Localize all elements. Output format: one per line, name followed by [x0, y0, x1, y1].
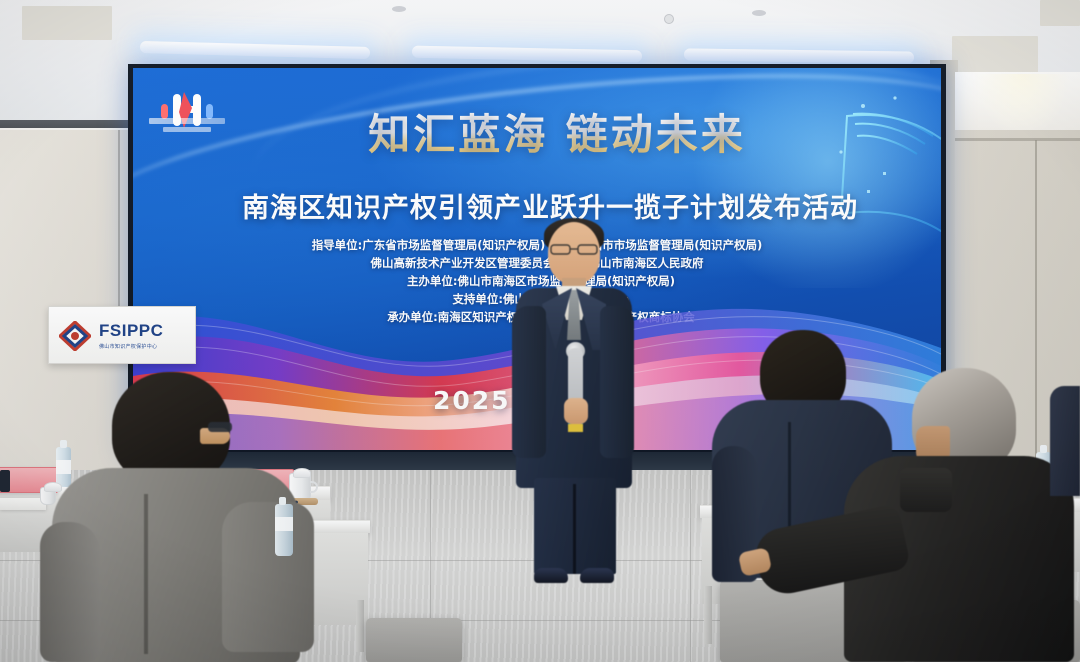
fsippc-sign-board: FSIPPC 佛山市知识产权保护中心: [48, 306, 196, 364]
soffit-light-glow: [975, 74, 1070, 136]
wall-seam: [118, 130, 120, 320]
speaker-shoe-right: [580, 568, 614, 583]
event-date: 2025: [433, 386, 511, 415]
speaker-person: [512, 222, 638, 584]
carpet-seam: [690, 470, 691, 662]
ceiling-tile: [1040, 0, 1080, 26]
fsippc-sign-text: FSIPPC 佛山市知识产权保护中心: [99, 321, 163, 350]
fsippc-acronym: FSIPPC: [99, 321, 163, 341]
speaker-arm-right: [600, 306, 634, 458]
ceiling-tile: [22, 6, 112, 40]
speaker-arm-left: [512, 306, 546, 458]
ceiling-downlight: [752, 10, 766, 16]
wall-trim: [955, 138, 1080, 141]
audience-arm-left: [40, 522, 100, 662]
glasses-temple-icon: [208, 422, 232, 432]
audience-collar: [900, 468, 952, 512]
conference-chair: [366, 618, 462, 662]
audience-person-black-jacket: [856, 368, 1080, 662]
speaker-leg-split: [573, 484, 576, 574]
speaker-hand: [564, 398, 588, 424]
credit-left: 指导单位:广东省市场监督管理局(知识产权局): [312, 238, 546, 252]
fsippc-chinese-name: 佛山市知识产权保护中心: [99, 343, 163, 350]
glasses-icon: [550, 244, 598, 255]
audience-arm-right: [222, 502, 314, 652]
device: [0, 470, 10, 492]
bottle-label: [275, 517, 293, 531]
speaker-shoe-left: [534, 568, 568, 583]
ceiling-downlight: [392, 6, 406, 12]
microphone-band: [568, 424, 583, 432]
table-leg: [704, 586, 712, 644]
event-photo-scene: 知汇蓝海 链动未来 南海区知识产权引领产业跃升一揽子计划发布活动 指导单位:广东…: [0, 0, 1080, 662]
event-main-title: 知汇蓝海 链动未来: [133, 112, 941, 158]
event-sub-title: 南海区知识产权引领产业跃升一揽子计划发布活动: [133, 186, 941, 225]
fsippc-diamond-logo-icon: [59, 321, 91, 351]
ceiling-smoke-sensor: [664, 14, 674, 24]
audience-person-partial: [1050, 386, 1080, 496]
audience-person-grey-suit: [40, 372, 360, 662]
water-bottle: [275, 504, 293, 556]
audience-jacket-seam: [144, 494, 148, 654]
